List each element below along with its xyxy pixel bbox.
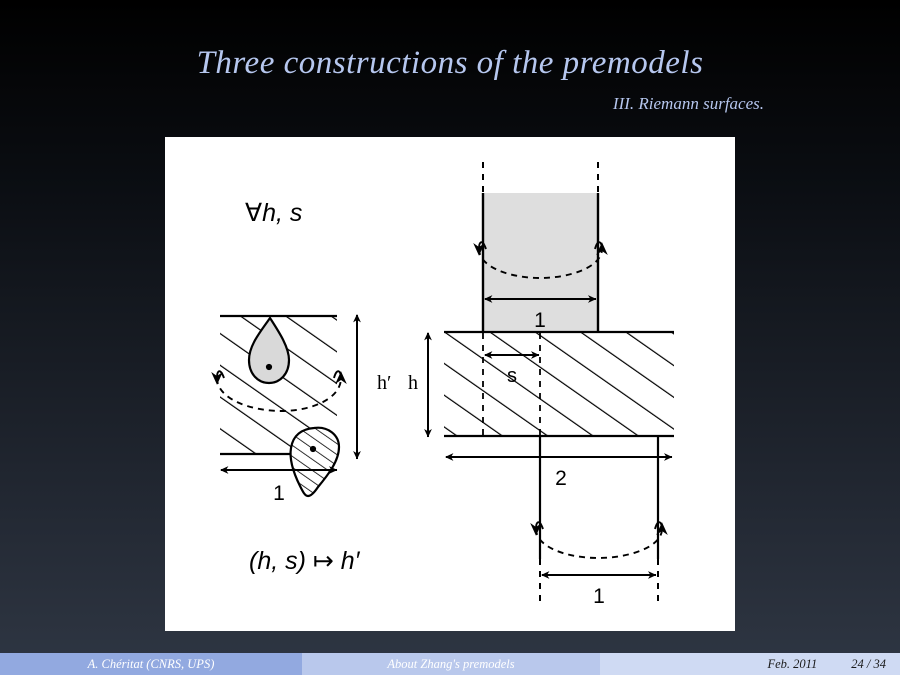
gray-teardrop-marked-point xyxy=(266,364,272,370)
footer-meta: Feb. 2011 24 / 34 xyxy=(600,653,900,675)
footer-date: Feb. 2011 xyxy=(768,657,818,672)
right-diagram: 1 s 2 xyxy=(444,162,674,608)
height-label-h-prime: h′ xyxy=(377,372,391,394)
figure-panel: 1 h′ h xyxy=(165,137,735,631)
height-label-h: h xyxy=(408,372,418,394)
slide-root: Three constructions of the premodels III… xyxy=(0,0,900,675)
shift-label: s xyxy=(507,365,517,387)
quantifier-label: ∀h, s xyxy=(245,199,302,227)
right-hatched-band xyxy=(444,331,674,437)
right-bottom-width-label: 1 xyxy=(593,585,605,608)
footer-bar: A. Chéritat (CNRS, UPS) About Zhang's pr… xyxy=(0,653,900,675)
footer-talk-title: About Zhang's premodels xyxy=(302,653,600,675)
left-diagram: 1 xyxy=(217,315,345,505)
band-width-label: 2 xyxy=(555,467,567,490)
height-dimension-group: h′ h xyxy=(357,315,428,459)
footer-author: A. Chéritat (CNRS, UPS) xyxy=(0,653,302,675)
page-subtitle: III. Riemann surfaces. xyxy=(613,94,764,114)
page-title: Three constructions of the premodels xyxy=(0,45,900,82)
right-top-width-label: 1 xyxy=(534,309,546,332)
mapping-label: (h, s) ↦ h′ xyxy=(249,547,361,575)
footer-page-number: 24 / 34 xyxy=(851,657,886,672)
right-bottom-rotation-ellipse xyxy=(536,529,662,558)
riemann-surface-figure: 1 h′ h xyxy=(165,137,735,631)
hatched-teardrop-marked-point xyxy=(310,446,316,452)
left-width-label: 1 xyxy=(273,482,285,505)
